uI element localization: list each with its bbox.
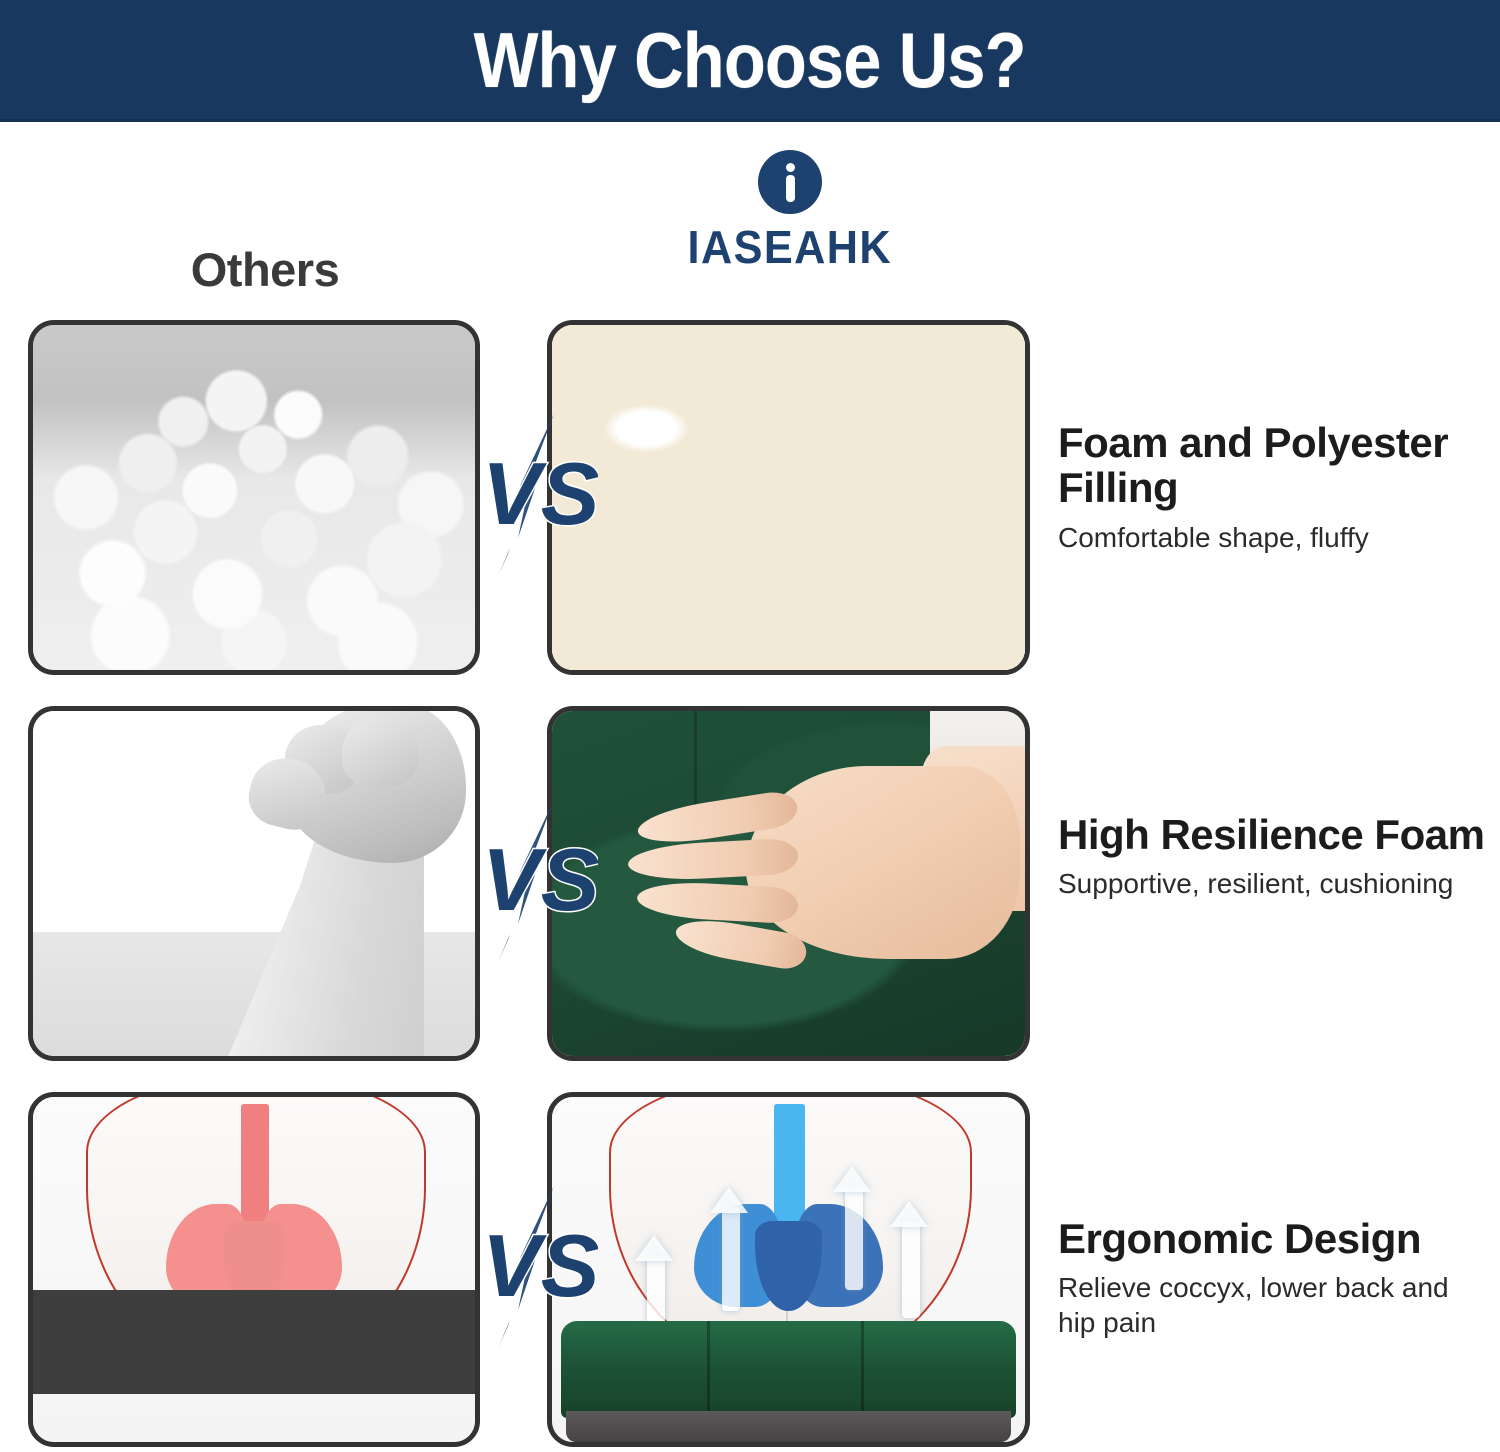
feature-title-2: High Resilience Foam bbox=[1058, 812, 1488, 857]
others-column-label: Others bbox=[30, 242, 500, 297]
brand-column-header: IASEAHK bbox=[545, 150, 1035, 274]
svg-text:VS: VS bbox=[482, 444, 598, 543]
page-title: Why Choose Us? bbox=[474, 21, 1026, 99]
svg-text:VS: VS bbox=[482, 830, 598, 929]
feature-subtitle-1: Comfortable shape, fluffy bbox=[1058, 521, 1488, 555]
foam-chunks-image bbox=[552, 325, 1025, 670]
others-image-card-1 bbox=[28, 320, 480, 675]
fiber-fill-grey-image bbox=[33, 325, 475, 670]
vs-badge-2: VS bbox=[468, 794, 598, 964]
spine-pain-red-image bbox=[33, 1097, 475, 1442]
brand-image-card-1 bbox=[547, 320, 1030, 675]
green-cushion-seat bbox=[561, 1321, 1015, 1418]
hand-pressing-green-cushion-image bbox=[552, 711, 1025, 1056]
svg-text:VS: VS bbox=[482, 1216, 598, 1315]
feature-text-1: Foam and Polyester Filling Comfortable s… bbox=[1058, 420, 1488, 555]
column-labels: Others IASEAHK bbox=[0, 122, 1500, 320]
vs-badge-3: VS bbox=[468, 1180, 598, 1350]
thin-foam-sheet-image bbox=[33, 711, 475, 1056]
others-image-card-3 bbox=[28, 1092, 480, 1447]
vs-badge-1: VS bbox=[468, 408, 598, 578]
brand-image-card-3 bbox=[547, 1092, 1030, 1447]
feature-title-3: Ergonomic Design bbox=[1058, 1216, 1488, 1261]
brand-name-label: IASEAHK bbox=[688, 220, 892, 274]
cushion-gray-base bbox=[566, 1411, 1011, 1442]
info-circle-icon bbox=[758, 150, 822, 214]
feature-text-2: High Resilience Foam Supportive, resilie… bbox=[1058, 812, 1488, 902]
feature-text-3: Ergonomic Design Relieve coccyx, lower b… bbox=[1058, 1216, 1488, 1340]
feature-subtitle-2: Supportive, resilient, cushioning bbox=[1058, 867, 1488, 901]
feature-title-1: Foam and Polyester Filling bbox=[1058, 420, 1488, 511]
others-image-card-2 bbox=[28, 706, 480, 1061]
page-header: Why Choose Us? bbox=[0, 0, 1500, 122]
brand-image-card-2 bbox=[547, 706, 1030, 1061]
spine-supported-blue-image bbox=[552, 1097, 1025, 1442]
feature-subtitle-3: Relieve coccyx, lower back and hip pain bbox=[1058, 1271, 1488, 1339]
hard-seat-surface bbox=[33, 1290, 475, 1394]
